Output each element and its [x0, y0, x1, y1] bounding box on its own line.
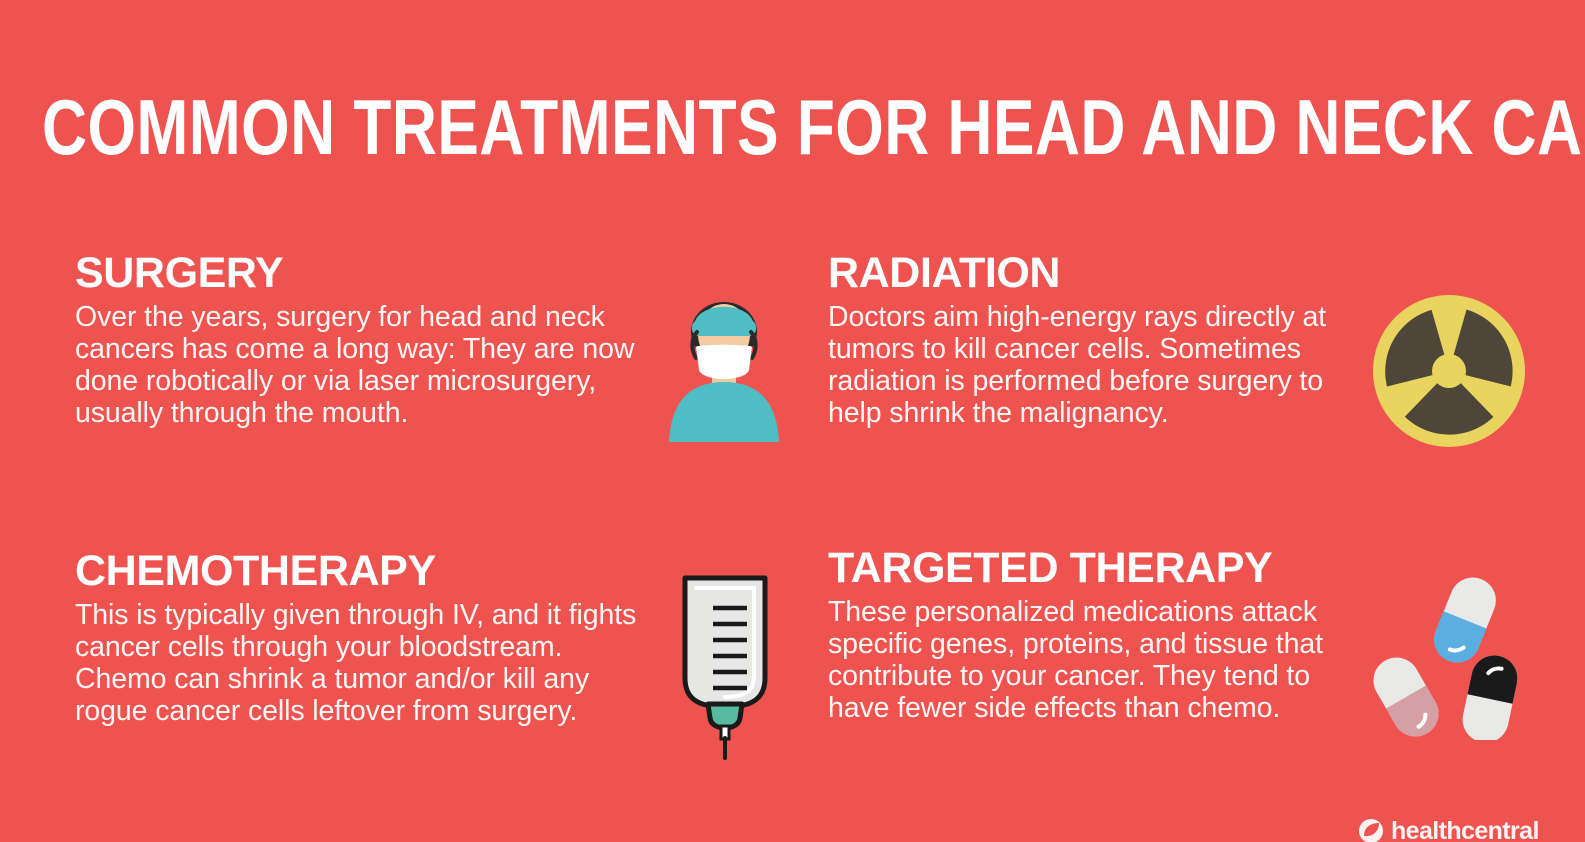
targeted-therapy-heading: TARGETED THERAPY: [828, 545, 1373, 591]
chemotherapy-body: This is typically given through IV, and …: [75, 599, 645, 727]
healthcentral-logo[interactable]: healthcentral: [1358, 818, 1539, 842]
surgery-body: Over the years, surgery for head and nec…: [75, 301, 645, 429]
radiation-body: Doctors aim high-energy rays directly at…: [828, 301, 1358, 429]
radiation-symbol-icon: [1373, 295, 1525, 447]
targeted-therapy-body: These personalized medications attack sp…: [828, 596, 1373, 724]
chemotherapy-heading: CHEMOTHERAPY: [75, 548, 645, 594]
chemotherapy-text-group: CHEMOTHERAPY This is typically given thr…: [75, 548, 645, 727]
surgery-heading: SURGERY: [75, 250, 645, 296]
pills-icon: [1358, 575, 1533, 740]
iv-bag-icon: [660, 570, 790, 760]
infographic-canvas: COMMON TREATMENTS FOR HEAD AND NECK CANC…: [0, 0, 1585, 842]
radiation-heading: RADIATION: [828, 250, 1358, 296]
surgery-text-group: SURGERY Over the years, surgery for head…: [75, 250, 645, 429]
healthcentral-circle-mark: [1358, 818, 1384, 842]
radiation-text-group: RADIATION Doctors aim high-energy rays d…: [828, 250, 1358, 429]
targeted-therapy-text-group: TARGETED THERAPY These personalized medi…: [828, 545, 1373, 724]
healthcentral-logo-text: healthcentral: [1391, 818, 1539, 842]
page-title: COMMON TREATMENTS FOR HEAD AND NECK CANC…: [42, 86, 1242, 168]
surgeon-icon: [663, 292, 785, 442]
